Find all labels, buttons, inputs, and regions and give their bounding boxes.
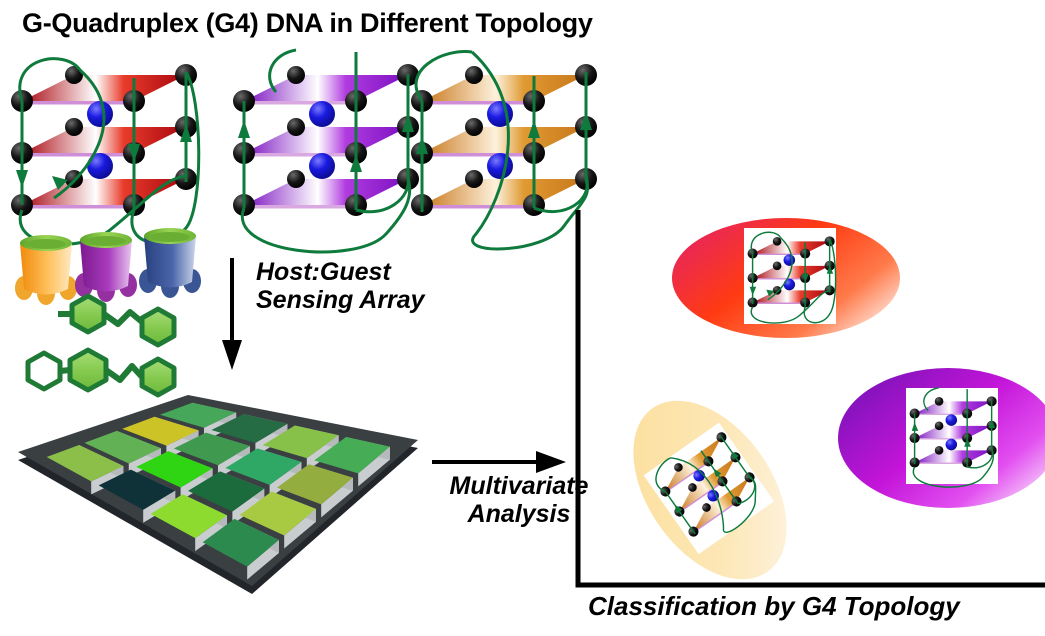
sensor-well-side [129, 448, 161, 476]
sensor-well-side [234, 519, 278, 553]
sensor-well-side [244, 414, 288, 437]
page-title: G-Quadruplex (G4) DNA in Different Topol… [22, 8, 593, 39]
sensor-well-side [181, 468, 213, 500]
sensor-well-side [284, 509, 316, 549]
guest-dye-biphenyl [58, 296, 174, 345]
sensor-well-side [358, 447, 390, 487]
g4-structure-antiparallel [233, 50, 419, 252]
sensor-well-side [195, 515, 227, 551]
arrow-down-sensing [222, 258, 242, 370]
multivariate-line1: Multivariate [450, 472, 589, 500]
sensor-well[interactable] [84, 431, 161, 464]
host-guest-label: Host:Guest Sensing Array [256, 258, 425, 314]
host-macrocycle-orange [15, 235, 77, 305]
sensor-well-side [143, 491, 175, 523]
sensor-well[interactable] [188, 471, 264, 511]
sensor-well-side [257, 448, 301, 475]
host-macrocycle-blue [139, 228, 201, 298]
sensor-well-side [247, 540, 279, 580]
sensor-well-group [47, 403, 390, 580]
sensor-well-side [204, 412, 236, 440]
sensor-well[interactable] [203, 519, 279, 567]
sensor-well-side [272, 492, 316, 522]
classification-scatter-plot-axes [578, 210, 1045, 585]
sensor-well-side [117, 431, 161, 461]
sensor-well[interactable] [136, 451, 212, 487]
sensor-well[interactable] [174, 433, 250, 466]
sensor-well[interactable] [277, 464, 353, 504]
fluorescence-sensor-array[interactable] [18, 395, 418, 594]
sensor-well[interactable] [47, 445, 124, 481]
guest-dye-terphenyl [28, 350, 174, 395]
sensor-well[interactable] [263, 426, 339, 459]
host-guest-line1: Host:Guest [256, 258, 391, 286]
sensor-well-side [270, 462, 302, 498]
sensor-well-side [321, 478, 353, 518]
sensor-well[interactable] [314, 437, 390, 473]
sensor-well-side [220, 471, 264, 501]
sensor-well-side [155, 417, 199, 444]
sensor-well-side [206, 433, 250, 460]
sensor-well-side [218, 446, 250, 478]
figure-canvas [0, 0, 1045, 636]
sensor-well[interactable] [99, 470, 176, 510]
sensor-well-side [232, 489, 264, 525]
classification-caption: Classification by G4 Topology [588, 592, 960, 621]
cluster-antiparallel-purple[interactable] [838, 368, 1045, 508]
sensor-well-side [166, 430, 198, 458]
analysis-line2: Analysis [468, 500, 571, 528]
sensor-well-side [192, 403, 236, 426]
sensor-well[interactable] [211, 414, 287, 443]
cluster-parallel-red[interactable] [672, 218, 900, 338]
sensor-well-side [346, 437, 390, 460]
sensor-well[interactable] [225, 448, 301, 484]
host-guest-line2: Sensing Array [256, 286, 425, 314]
sensor-well-side [131, 470, 175, 504]
sensor-well[interactable] [160, 403, 236, 428]
sensor-well-side [295, 426, 339, 449]
sensor-well[interactable] [122, 417, 198, 446]
multivariate-analysis-label: Multivariate Analysis [434, 472, 604, 528]
g4-structure-parallel [11, 59, 199, 245]
sensor-well[interactable] [151, 494, 227, 538]
sensor-well-side [79, 445, 123, 479]
cluster-hybrid-orange[interactable] [602, 373, 818, 608]
sensor-well-side [91, 466, 123, 494]
arrow-right-analysis [432, 451, 566, 473]
host-macrocycle-purple [75, 232, 137, 302]
sensor-well[interactable] [240, 492, 316, 536]
g4-structure-hybrid [411, 52, 597, 249]
sensor-well-side [183, 494, 227, 528]
sensor-well-side [168, 451, 212, 481]
sensor-well-side [309, 464, 353, 491]
sensor-well-side [255, 424, 287, 456]
graphical-abstract: G-Quadruplex (G4) DNA in Different Topol… [0, 0, 1045, 636]
sensor-well-side [307, 435, 339, 471]
